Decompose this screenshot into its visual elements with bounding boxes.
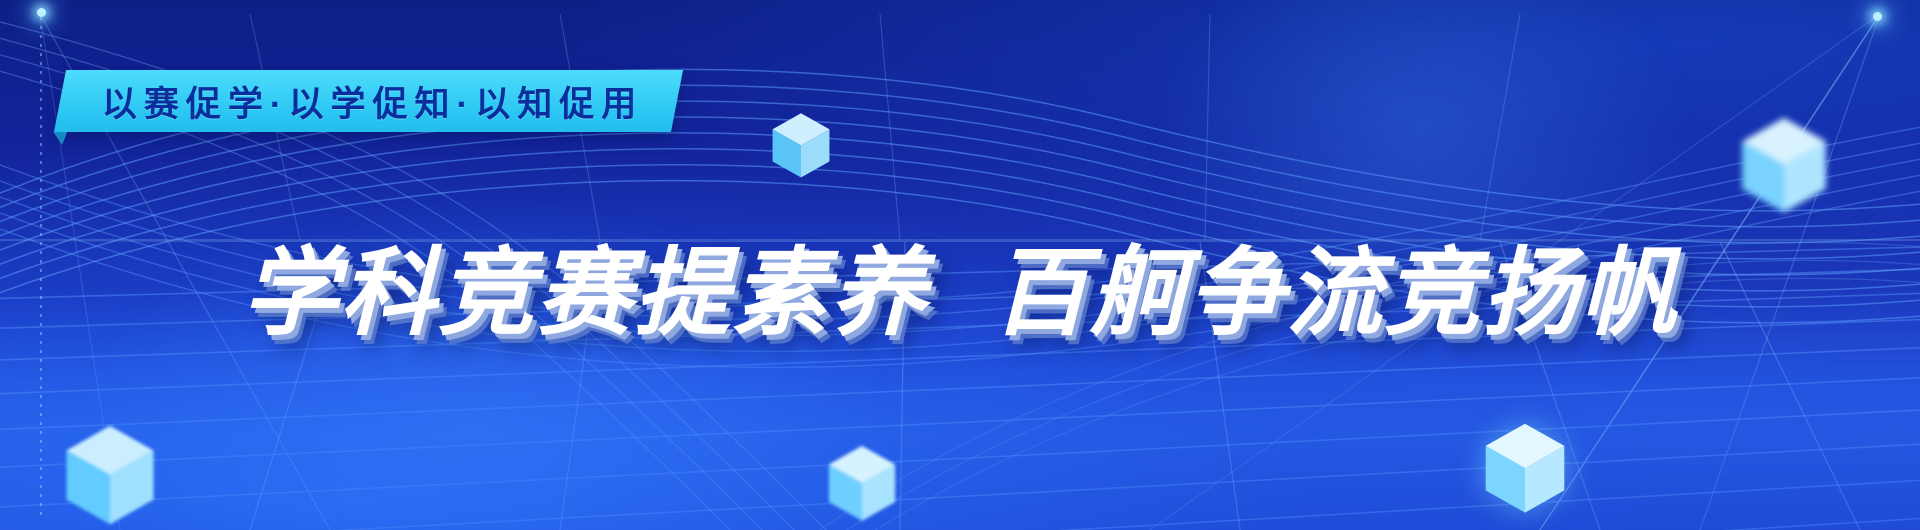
glow-dot-top-right-icon bbox=[1873, 12, 1882, 21]
cube-top-right-icon bbox=[1738, 116, 1830, 216]
subtitle-ribbon: 以赛促学·以学促知·以知促用 bbox=[60, 70, 677, 132]
headline-line-right: 百舸争流竞扬帆 bbox=[992, 246, 1678, 342]
subtitle-text: 以赛促学·以学促知·以知促用 bbox=[102, 76, 643, 127]
banner-root: 以赛促学·以学促知·以知促用 学科竞赛提素养 百舸争流竞扬帆 bbox=[0, 0, 1920, 530]
glow-right bbox=[1037, 0, 1805, 424]
ribbon-fold-corner bbox=[48, 132, 67, 145]
cube-bottom-right-icon bbox=[1482, 422, 1568, 516]
cube-ribbon-end-icon bbox=[770, 112, 832, 180]
headline: 学科竞赛提素养 百舸争流竞扬帆 bbox=[0, 246, 1920, 342]
glow-dot-top-left-icon bbox=[37, 8, 46, 17]
headline-line-left: 学科竞赛提素养 bbox=[242, 246, 928, 342]
subtitle-ribbon-body: 以赛促学·以学促知·以知促用 bbox=[54, 70, 683, 132]
cube-bottom-left-icon bbox=[62, 424, 158, 528]
cube-bottom-center-icon bbox=[826, 444, 898, 524]
